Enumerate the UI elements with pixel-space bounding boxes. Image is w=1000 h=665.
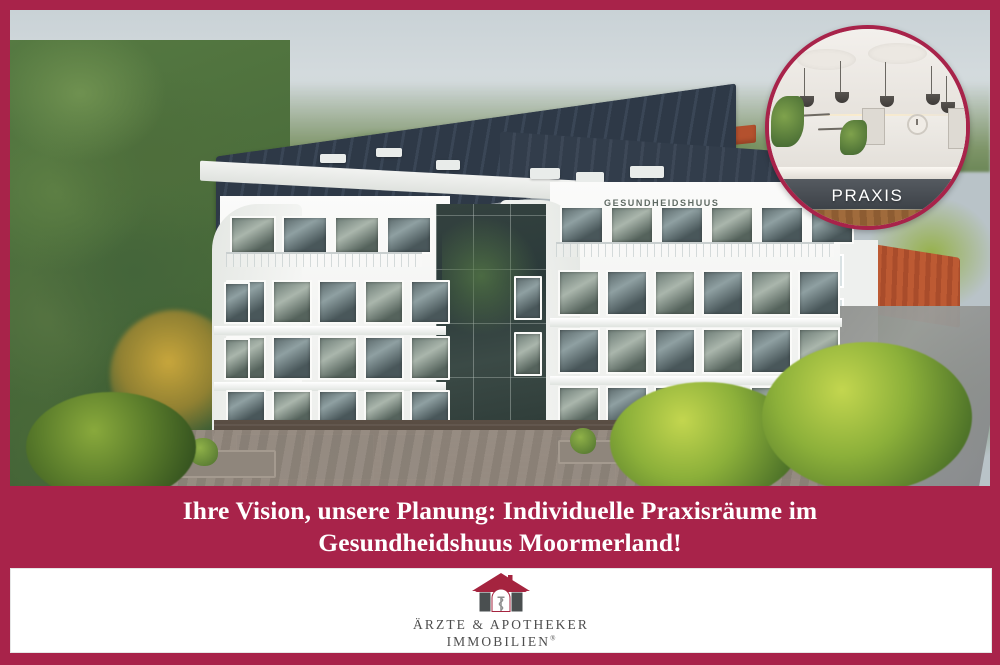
roof-vent (630, 166, 664, 178)
wall-clock (907, 114, 928, 135)
advertisement-card: GESUNDHEIDSHUUS AUGEN KLINIK (0, 0, 1000, 665)
window-row (230, 216, 432, 254)
house-with-caduceus-icon (471, 572, 531, 616)
logo-line-2: IMMOBILIEN® (447, 635, 556, 650)
roof-skylight (320, 154, 346, 163)
window-row (226, 336, 450, 380)
praxis-inset-photo: PRAXIS (765, 25, 970, 230)
pendant-lamp (926, 94, 940, 105)
praxis-counter-label: PRAXIS (769, 187, 966, 204)
roof-vent (530, 168, 560, 179)
logo-line-1: ÄRZTE & APOTHEKER (413, 618, 589, 633)
roof-skylight (436, 160, 460, 170)
headline-banner: Ihre Vision, unsere Planung: Individuell… (10, 486, 990, 568)
headline-text: Ihre Vision, unsere Planung: Individuell… (183, 495, 817, 559)
shrub (570, 428, 596, 454)
pendant-cord (804, 68, 805, 96)
balcony-railing (556, 242, 834, 257)
hero-photo: GESUNDHEIDSHUUS AUGEN KLINIK (10, 10, 990, 486)
pendant-cord (931, 66, 932, 94)
window-row (226, 280, 450, 324)
company-logo: ÄRZTE & APOTHEKER IMMOBILIEN® (413, 572, 589, 650)
headline-line-1: Ihre Vision, unsere Planung: Individuell… (183, 495, 817, 527)
headline-line-2: Gesundheidshuus Moormerland! (183, 527, 817, 559)
roof-skylight (376, 148, 402, 157)
building-signage: GESUNDHEIDSHUUS (604, 199, 720, 208)
logo-line-2-text: IMMOBILIEN (447, 634, 551, 649)
window-row (558, 270, 840, 316)
foreground-tree (762, 342, 972, 486)
registered-mark: ® (550, 634, 555, 642)
logo-card: ÄRZTE & APOTHEKER IMMOBILIEN® (10, 568, 992, 653)
window-row (226, 390, 450, 424)
interior-door (948, 108, 968, 149)
wood-floor (769, 210, 966, 226)
pendant-cord (946, 76, 947, 102)
wall-shelf (818, 127, 844, 130)
pendant-cord (885, 62, 886, 95)
pendant-cord (840, 61, 841, 93)
ceiling-disc (797, 49, 856, 71)
ceiling-disc (868, 43, 927, 65)
balcony-railing (226, 252, 422, 267)
